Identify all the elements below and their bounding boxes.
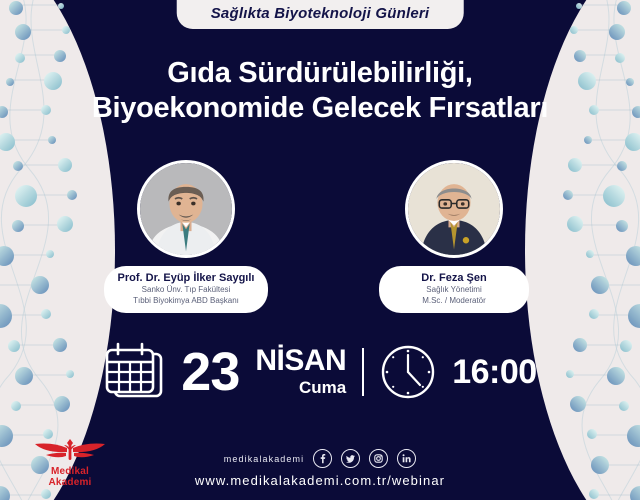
speaker-card-1: Prof. Dr. Eyüp İlker Saygılı Sanko Ünv. … xyxy=(91,160,281,313)
event-weekday: Cuma xyxy=(299,378,346,398)
twitter-icon[interactable] xyxy=(341,449,360,468)
event-month: NİSAN xyxy=(255,346,346,376)
speaker-affiliation-line-1: Sanko Ünv. Tıp Fakültesi xyxy=(118,285,255,296)
logo-line-2: Akademi xyxy=(33,478,107,489)
speaker-name: Prof. Dr. Eyüp İlker Saygılı xyxy=(118,271,255,285)
speakers-row: Prof. Dr. Eyüp İlker Saygılı Sanko Ünv. … xyxy=(0,160,640,313)
clock-icon xyxy=(380,344,436,400)
speaker-name-card-1: Prof. Dr. Eyüp İlker Saygılı Sanko Ünv. … xyxy=(104,266,269,313)
linkedin-icon[interactable] xyxy=(397,449,416,468)
event-day: 23 xyxy=(181,345,239,399)
brand-logo: Medikal Akademi xyxy=(33,436,107,488)
caduceus-wings-icon xyxy=(33,436,107,462)
vertical-divider xyxy=(362,348,364,396)
event-month-block: NİSAN Cuma xyxy=(255,346,346,398)
title-line-2: Biyoekonomide Gelecek Fırsatları xyxy=(0,91,640,126)
speaker-affiliation-line-2: M.Sc. / Moderatör xyxy=(393,296,515,307)
speaker-name: Dr. Feza Şen xyxy=(393,271,515,285)
speaker-name-card-2: Dr. Feza Şen Sağlık Yönetimi M.Sc. / Mod… xyxy=(379,266,529,313)
calendar-icon xyxy=(103,342,165,402)
instagram-icon[interactable] xyxy=(369,449,388,468)
title-line-1: Gıda Sürdürülebilirliği, xyxy=(0,56,640,91)
speaker-photo-saygili xyxy=(137,160,235,258)
speaker-affiliation-line-1: Sağlık Yönetimi xyxy=(393,285,515,296)
logo-line-1: Medikal xyxy=(33,467,107,478)
social-handle: medikalakademi xyxy=(224,454,304,464)
webinar-poster: Sağlıkta Biyoteknoloji Günleri Gıda Sürd… xyxy=(0,0,640,500)
speaker-photo-sen xyxy=(405,160,503,258)
social-row: medikalakademi xyxy=(224,449,416,468)
event-time: 16:00 xyxy=(452,355,536,389)
speaker-affiliation-line-2: Tıbbi Biyokimya ABD Başkanı xyxy=(118,296,255,307)
event-series-banner: Sağlıkta Biyoteknoloji Günleri xyxy=(177,0,464,29)
facebook-icon[interactable] xyxy=(313,449,332,468)
website-url[interactable]: www.medikalakademi.com.tr/webinar xyxy=(195,473,445,488)
event-datetime-row: 23 NİSAN Cuma 16:00 xyxy=(0,342,640,402)
page-title: Gıda Sürdürülebilirliği, Biyoekonomide G… xyxy=(0,56,640,127)
speaker-card-2: Dr. Feza Şen Sağlık Yönetimi M.Sc. / Mod… xyxy=(359,160,549,313)
